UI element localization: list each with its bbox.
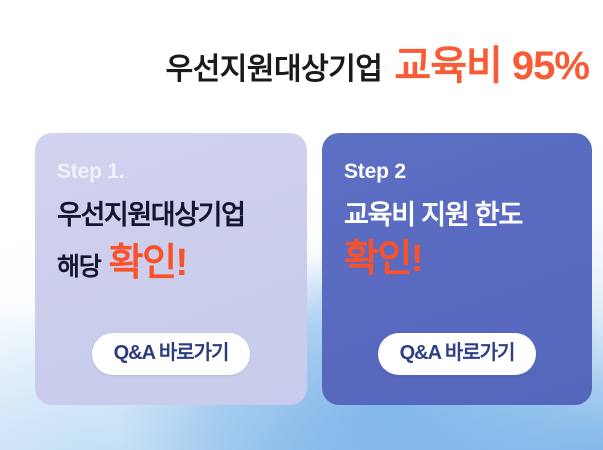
step-1-label: Step 1. [57, 161, 285, 182]
step-1-accent-text: 확인! [109, 242, 187, 284]
step-2-cta-wrapper: Q&A 바로가기 [344, 333, 570, 375]
step-2-subheading-line: 확인! [344, 240, 570, 278]
step-card-2[interactable]: Step 2 교육비 지원 한도 확인! Q&A 바로가기 [322, 133, 592, 405]
step-1-cta-wrapper: Q&A 바로가기 [57, 333, 285, 375]
step-2-label: Step 2 [344, 161, 570, 182]
step-2-heading-line: 교육비 지원 한도 [344, 200, 570, 232]
step-1-prefix-text: 해당 [57, 253, 101, 281]
step-1-subheading-line: 해당확인! [57, 244, 285, 282]
step-2-qna-button[interactable]: Q&A 바로가기 [378, 333, 537, 375]
headline-lead-text: 우선지원대상기업 [166, 53, 383, 86]
step-card-1[interactable]: Step 1. 우선지원대상기업 해당확인! Q&A 바로가기 [35, 133, 307, 405]
step-2-heading-text: 교육비 지원 한도 [344, 200, 522, 230]
step-1-heading-line: 우선지원대상기업 [57, 200, 285, 232]
step-1-heading-text: 우선지원대상기업 [57, 200, 245, 230]
banner-headline: 우선지원대상기업교육비 95% [0, 46, 589, 86]
step-1-qna-button[interactable]: Q&A 바로가기 [92, 333, 251, 375]
promo-banner: 우선지원대상기업교육비 95% Step 1. 우선지원대상기업 해당확인! Q… [0, 0, 603, 450]
headline-accent-text: 교육비 95% [394, 44, 589, 88]
step-2-accent-text: 확인! [344, 238, 422, 280]
step-cards-container: Step 1. 우선지원대상기업 해당확인! Q&A 바로가기 Step 2 교… [35, 133, 592, 405]
